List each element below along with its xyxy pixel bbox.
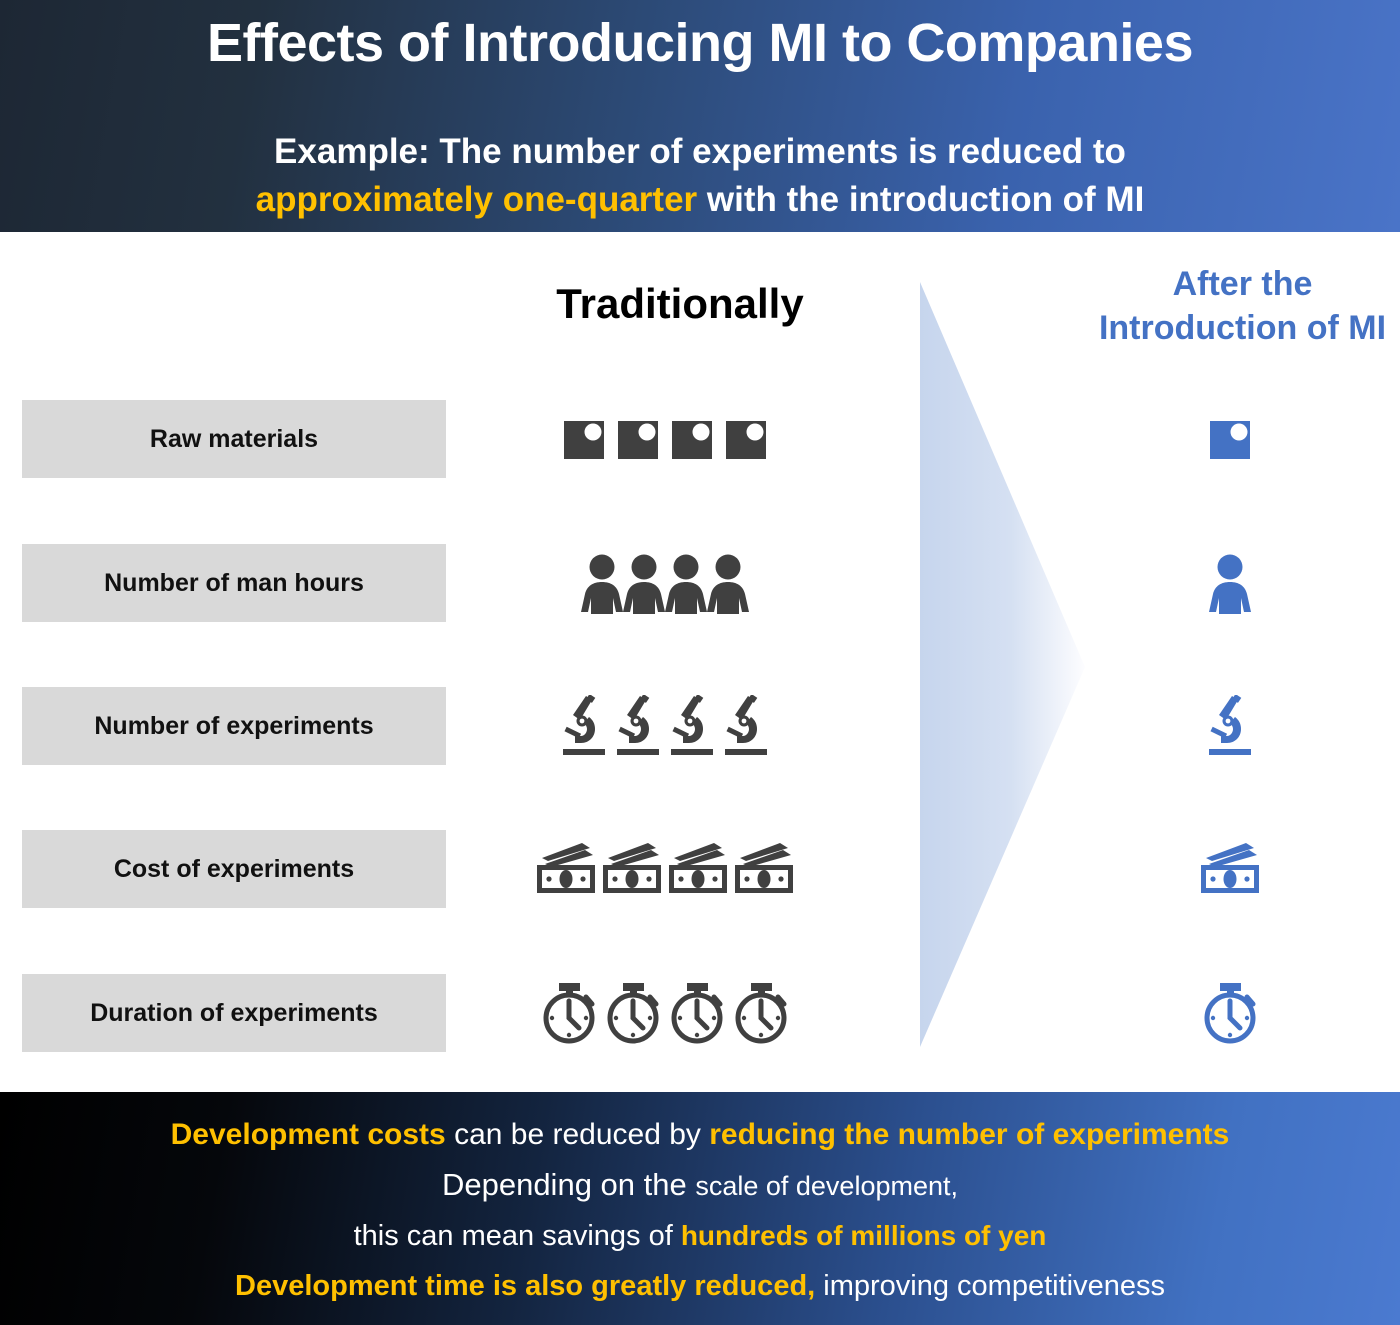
- raw-material-block-icon: [668, 415, 716, 463]
- traditional-icons-experiments: [470, 687, 860, 765]
- person-icon: [700, 552, 756, 614]
- raw-material-block-icon: [560, 415, 608, 463]
- footer-line-4: Development time is also greatly reduced…: [0, 1261, 1400, 1311]
- page-title: Effects of Introducing MI to Companies: [0, 12, 1400, 74]
- column-header-after-mi-line2: Introduction of MI: [1099, 309, 1386, 347]
- traditional-icons-man-hours: [470, 544, 860, 622]
- footer-banner: Development costs can be reduced by redu…: [0, 1092, 1400, 1325]
- row-label-man-hours: Number of man hours: [22, 544, 446, 622]
- transition-arrow-icon: [920, 282, 1085, 1047]
- microscope-icon: [559, 695, 609, 757]
- footer-line-3: this can mean savings of hundreds of mil…: [0, 1211, 1400, 1261]
- subtitle-line-1: Example: The number of experiments is re…: [274, 132, 1126, 171]
- footer-line-1-part-c: reducing the number of experiments: [709, 1118, 1229, 1151]
- stopwatch-icon: [601, 979, 665, 1047]
- column-header-after-mi: After the Introduction of MI: [1085, 262, 1400, 350]
- banknote-icon: [667, 841, 729, 897]
- traditional-icons-duration: [470, 974, 860, 1052]
- footer-line-3-part-a: this can mean savings of: [354, 1220, 681, 1252]
- table-row: Cost of experiments: [0, 830, 1400, 908]
- banknote-icon: [601, 841, 663, 897]
- footer-line-4-part-b: improving competitiveness: [815, 1270, 1165, 1302]
- stopwatch-icon: [1198, 979, 1262, 1047]
- footer-line-1-part-b: can be reduced by: [446, 1118, 710, 1151]
- footer-line-2-part-a: Depending on the: [442, 1167, 695, 1202]
- microscope-icon: [721, 695, 771, 757]
- mi-icons-raw-materials: [1085, 400, 1375, 478]
- traditional-icons-cost: [470, 830, 860, 908]
- microscope-icon: [613, 695, 663, 757]
- table-row: Raw materials: [0, 400, 1400, 478]
- column-header-after-mi-line1: After the: [1173, 265, 1313, 303]
- banknote-icon: [1199, 841, 1261, 897]
- table-row: Duration of experiments: [0, 974, 1400, 1052]
- header-subtitle: Example: The number of experiments is re…: [0, 128, 1400, 224]
- row-label-raw-materials: Raw materials: [22, 400, 446, 478]
- microscope-icon: [667, 695, 717, 757]
- footer-line-3-part-b: hundreds of millions of yen: [681, 1220, 1047, 1251]
- footer-text-block: Development costs can be reduced by redu…: [0, 1110, 1400, 1311]
- row-label-duration-of-experiments: Duration of experiments: [22, 974, 446, 1052]
- mi-icons-experiments: [1085, 687, 1375, 765]
- footer-line-2: Depending on the scale of development,: [0, 1160, 1400, 1211]
- mi-icons-cost: [1085, 830, 1375, 908]
- subtitle-highlight: approximately one-quarter: [256, 180, 698, 219]
- footer-line-2-part-b: scale of development,: [695, 1171, 958, 1201]
- microscope-icon: [1205, 695, 1255, 757]
- row-label-number-of-experiments: Number of experiments: [22, 687, 446, 765]
- footer-line-1: Development costs can be reduced by redu…: [0, 1110, 1400, 1160]
- stopwatch-icon: [729, 979, 793, 1047]
- banknote-icon: [535, 841, 597, 897]
- stopwatch-icon: [537, 979, 601, 1047]
- footer-line-4-part-a: Development time is also greatly reduced…: [235, 1270, 815, 1302]
- footer-line-1-part-a: Development costs: [171, 1118, 446, 1151]
- person-icon: [1202, 552, 1258, 614]
- row-label-cost-of-experiments: Cost of experiments: [22, 830, 446, 908]
- stopwatch-icon: [665, 979, 729, 1047]
- traditional-icons-raw-materials: [470, 400, 860, 478]
- table-row: Number of experiments: [0, 687, 1400, 765]
- mi-icons-duration: [1085, 974, 1375, 1052]
- subtitle-line-2-rest: with the introduction of MI: [697, 180, 1144, 219]
- comparison-area: Traditionally After the Introduction of …: [0, 232, 1400, 1092]
- raw-material-block-icon: [1206, 415, 1254, 463]
- banknote-icon: [733, 841, 795, 897]
- mi-icons-man-hours: [1085, 544, 1375, 622]
- raw-material-block-icon: [722, 415, 770, 463]
- column-header-traditional: Traditionally: [470, 280, 890, 328]
- raw-material-block-icon: [614, 415, 662, 463]
- table-row: Number of man hours: [0, 544, 1400, 622]
- header-banner: Effects of Introducing MI to Companies E…: [0, 0, 1400, 232]
